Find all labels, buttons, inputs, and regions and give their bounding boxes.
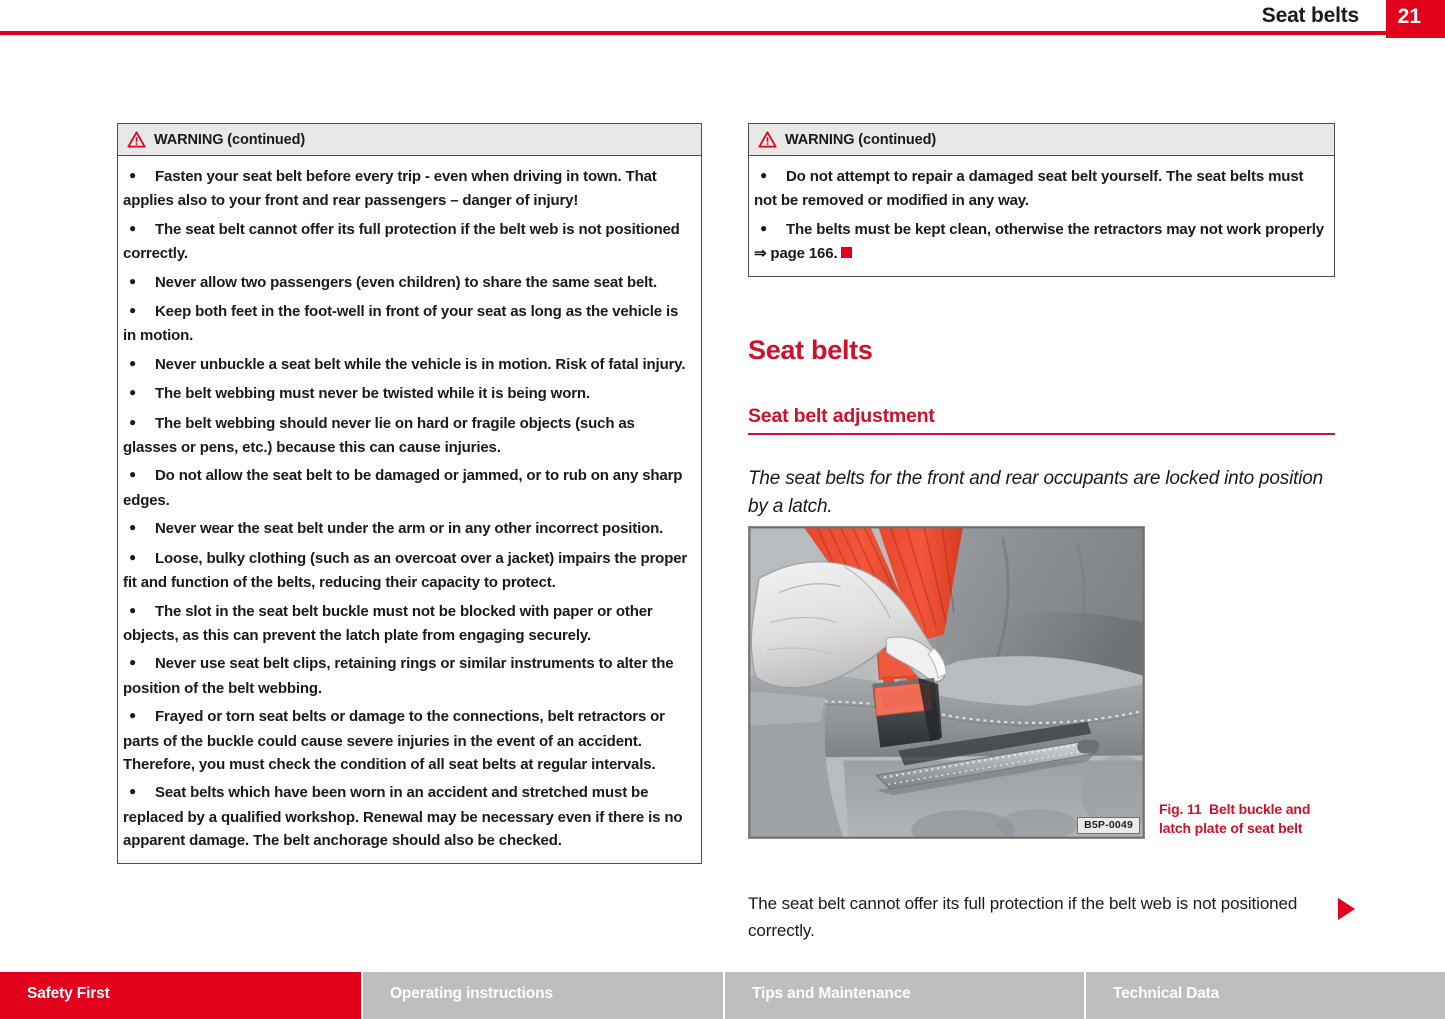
bullet-icon bbox=[123, 300, 155, 324]
warning-item: Seat belts which have been worn in an ac… bbox=[123, 781, 691, 852]
warning-item-text: Never use seat belt clips, retaining rin… bbox=[123, 655, 673, 696]
body-paragraph: The seat belt cannot offer its full prot… bbox=[748, 890, 1318, 944]
warning-item-text: The slot in the seat belt buckle must no… bbox=[123, 603, 653, 644]
footer-tab-label: Tips and Maintenance bbox=[752, 985, 911, 1003]
warning-box-right: WARNING (continued) Do not attempt to re… bbox=[748, 123, 1335, 277]
header-divider bbox=[0, 31, 1386, 35]
warning-triangle-icon bbox=[127, 131, 146, 148]
figure-caption: Fig. 11 Belt buckle and latch plate of s… bbox=[1159, 800, 1339, 838]
page-title: Seat belts bbox=[1262, 4, 1359, 28]
warning-header: WARNING (continued) bbox=[118, 124, 701, 156]
warning-item: Loose, bulky clothing (such as an overco… bbox=[123, 547, 691, 595]
warning-item-text: Do not allow the seat belt to be damaged… bbox=[123, 467, 682, 508]
figure: B5P-0049 bbox=[748, 526, 1145, 839]
lead-paragraph: The seat belts for the front and rear oc… bbox=[748, 465, 1335, 521]
footer-tab-label: Technical Data bbox=[1113, 985, 1219, 1003]
warning-item: Frayed or torn seat belts or damage to t… bbox=[123, 705, 691, 776]
warning-item: The belts must be kept clean, otherwise … bbox=[754, 218, 1324, 266]
footer-tab-label: Operating instructions bbox=[390, 985, 553, 1003]
warning-item-text: Fasten your seat belt before every trip … bbox=[123, 168, 657, 209]
warning-item: Keep both feet in the foot-well in front… bbox=[123, 300, 691, 348]
warning-box-left: WARNING (continued) Fasten your seat bel… bbox=[117, 123, 702, 864]
warning-item-text: The belt webbing should never lie on har… bbox=[123, 415, 635, 456]
warning-item-text: Seat belts which have been worn in an ac… bbox=[123, 784, 682, 849]
warning-item-text: Never wear the seat belt under the arm o… bbox=[155, 520, 663, 537]
warning-item: Do not attempt to repair a damaged seat … bbox=[754, 165, 1324, 213]
footer-tab-operating-instructions[interactable]: Operating instructions bbox=[361, 972, 723, 1019]
warning-header: WARNING (continued) bbox=[749, 124, 1334, 156]
warning-item: Fasten your seat belt before every trip … bbox=[123, 165, 691, 213]
bullet-icon bbox=[123, 464, 155, 488]
warning-item: Never unbuckle a seat belt while the veh… bbox=[123, 353, 691, 377]
right-column: WARNING (continued) Do not attempt to re… bbox=[748, 123, 1335, 277]
left-column: WARNING (continued) Fasten your seat bel… bbox=[117, 123, 702, 864]
warning-item-text: Loose, bulky clothing (such as an overco… bbox=[123, 550, 687, 591]
warning-item-text: Keep both feet in the foot-well in front… bbox=[123, 303, 678, 344]
bullet-icon bbox=[123, 600, 155, 624]
warning-item-text: Frayed or torn seat belts or damage to t… bbox=[123, 708, 665, 773]
warning-item-text: The belts must be kept clean, otherwise … bbox=[754, 221, 1324, 262]
warning-item: Do not allow the seat belt to be damaged… bbox=[123, 464, 691, 512]
bullet-icon bbox=[754, 165, 786, 189]
bullet-icon bbox=[754, 218, 786, 242]
bullet-icon bbox=[123, 412, 155, 436]
warning-body-left: Fasten your seat belt before every trip … bbox=[118, 156, 701, 863]
section-divider bbox=[748, 433, 1335, 435]
bullet-icon bbox=[123, 652, 155, 676]
bullet-icon bbox=[123, 271, 155, 295]
warning-item: The belt webbing should never lie on har… bbox=[123, 412, 691, 460]
warning-triangle-icon bbox=[758, 131, 777, 148]
warning-header-label: WARNING (continued) bbox=[154, 132, 305, 148]
warning-item: Never wear the seat belt under the arm o… bbox=[123, 517, 691, 541]
figure-watermark: B5P-0049 bbox=[1077, 817, 1140, 834]
footer-tab-tips-and-maintenance[interactable]: Tips and Maintenance bbox=[723, 972, 1084, 1019]
footer-tab-label: Safety First bbox=[27, 985, 110, 1003]
page-header: Seat belts 21 bbox=[0, 0, 1445, 31]
chapter-title: Seat belts bbox=[748, 335, 873, 366]
warning-item: The seat belt cannot offer its full prot… bbox=[123, 218, 691, 266]
warning-item-text: Never unbuckle a seat belt while the veh… bbox=[155, 356, 685, 373]
warning-item: The belt webbing must never be twisted w… bbox=[123, 382, 691, 406]
warning-header-label: WARNING (continued) bbox=[785, 132, 936, 148]
bullet-icon bbox=[123, 517, 155, 541]
warning-item-text: Never allow two passengers (even childre… bbox=[155, 274, 657, 291]
page-number: 21 bbox=[1398, 5, 1421, 29]
continue-arrow-icon bbox=[1338, 898, 1355, 920]
bullet-icon bbox=[123, 781, 155, 805]
bullet-icon bbox=[123, 705, 155, 729]
footer-tabs: Safety First Operating instructions Tips… bbox=[0, 972, 1445, 1019]
warning-body-right: Do not attempt to repair a damaged seat … bbox=[749, 156, 1334, 276]
figure-illustration bbox=[748, 526, 1145, 839]
warning-item-text: Do not attempt to repair a damaged seat … bbox=[754, 168, 1303, 209]
warning-item: Never use seat belt clips, retaining rin… bbox=[123, 652, 691, 700]
figure-number: Fig. 11 bbox=[1159, 801, 1202, 817]
bullet-icon bbox=[123, 382, 155, 406]
warning-item-text: The seat belt cannot offer its full prot… bbox=[123, 221, 680, 262]
footer-tab-safety-first[interactable]: Safety First bbox=[0, 972, 361, 1019]
section-title: Seat belt adjustment bbox=[748, 405, 935, 428]
section-end-marker bbox=[841, 247, 852, 258]
bullet-icon bbox=[123, 165, 155, 189]
warning-item-text: The belt webbing must never be twisted w… bbox=[155, 385, 590, 402]
bullet-icon bbox=[123, 547, 155, 571]
warning-item: Never allow two passengers (even childre… bbox=[123, 271, 691, 295]
bullet-icon bbox=[123, 218, 155, 242]
footer-tab-technical-data[interactable]: Technical Data bbox=[1084, 972, 1445, 1019]
warning-item: The slot in the seat belt buckle must no… bbox=[123, 600, 691, 648]
bullet-icon bbox=[123, 353, 155, 377]
